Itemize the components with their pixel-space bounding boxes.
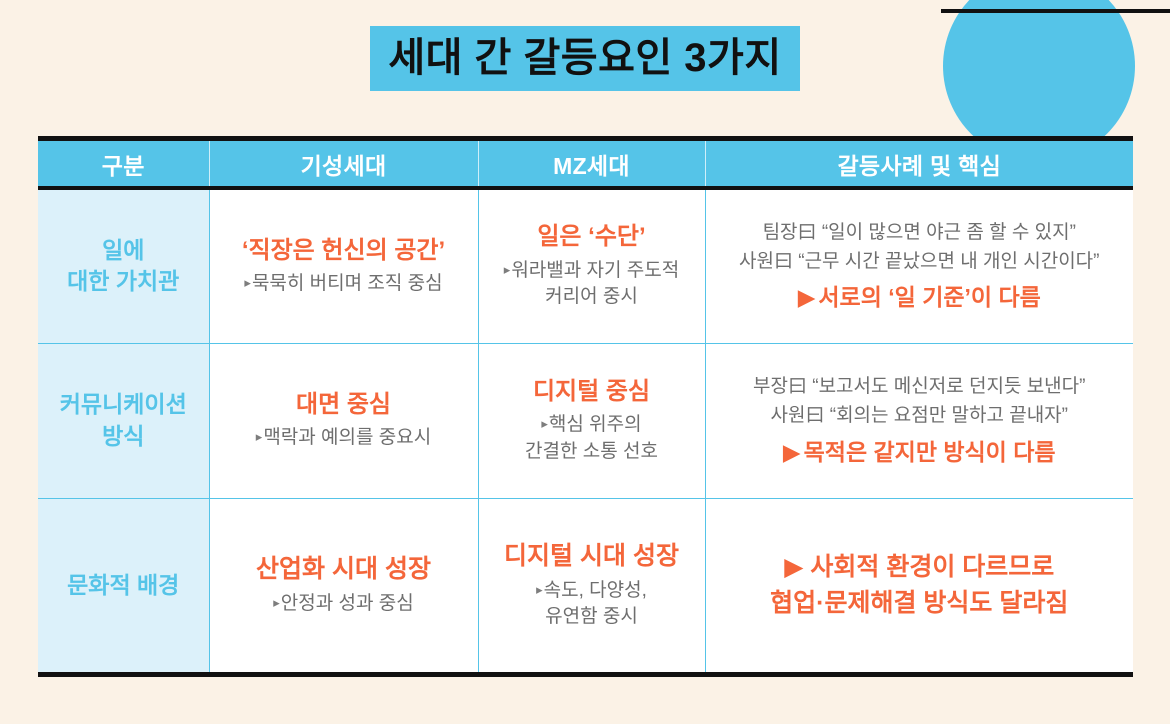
column-header-mz-generation: MZ세대 (478, 141, 705, 188)
triangle-right-icon: ▶ (798, 284, 816, 310)
older-bullet-text: 묵묵히 버티며 조직 중심 (252, 273, 443, 294)
row-label-work-values: 일에 대한 가치관 (38, 188, 209, 343)
row-label-line1: 문화적 배경 (46, 570, 201, 601)
cell-conflict-work-values: 팀장曰 “일이 많으면 야근 좀 할 수 있지” 사원曰 “근무 시간 끝났으면… (705, 188, 1133, 343)
older-headline: 대면 중심 (218, 389, 470, 421)
comparison-table-frame: 구분 기성세대 MZ세대 갈등사례 및 핵심 일에 대한 가치관 ‘직장은 헌신… (38, 136, 1133, 677)
table-row: 일에 대한 가치관 ‘직장은 헌신의 공간’ ▸묵묵히 버티며 조직 중심 일은… (38, 188, 1133, 343)
column-header-older-generation: 기성세대 (209, 141, 478, 188)
older-bullet: ▸묵묵히 버티며 조직 중심 (218, 271, 470, 298)
cell-older-work-values: ‘직장은 헌신의 공간’ ▸묵묵히 버티며 조직 중심 (209, 188, 478, 343)
generation-conflict-table: 구분 기성세대 MZ세대 갈등사례 및 핵심 일에 대한 가치관 ‘직장은 헌신… (38, 141, 1133, 672)
conflict-quote-1: 부장曰 “보고서도 메신저로 던지듯 보낸다” (714, 372, 1126, 401)
mz-headline: 일은 ‘수단’ (487, 221, 697, 253)
bullet-arrow-icon: ▸ (273, 595, 280, 610)
column-header-conflict-cases: 갈등사례 및 핵심 (705, 141, 1133, 188)
mz-bullet-line1: ▸핵심 위주의 (487, 412, 697, 439)
conflict-conclusion: ▶목적은 같지만 방식이 다름 (714, 435, 1126, 470)
decorative-horizontal-rule (941, 9, 1170, 13)
row-label-line2: 대한 가치관 (46, 266, 201, 297)
table-header-row: 구분 기성세대 MZ세대 갈등사례 및 핵심 (38, 141, 1133, 188)
mz-headline: 디지털 중심 (487, 376, 697, 408)
bullet-arrow-icon: ▸ (256, 429, 263, 444)
older-bullet: ▸안정과 성과 중심 (218, 591, 470, 618)
mz-bullet-line2: 커리어 중시 (487, 284, 697, 311)
older-bullet-text: 맥락과 예의를 중요시 (263, 427, 431, 448)
cell-conflict-cultural-background: ▶ 사회적 환경이 다르므로 협업·문제해결 방식도 달라짐 (705, 498, 1133, 672)
row-label-cultural-background: 문화적 배경 (38, 498, 209, 672)
older-bullet-text: 안정과 성과 중심 (281, 593, 414, 614)
table-header: 구분 기성세대 MZ세대 갈등사례 및 핵심 (38, 141, 1133, 188)
table-body: 일에 대한 가치관 ‘직장은 헌신의 공간’ ▸묵묵히 버티며 조직 중심 일은… (38, 188, 1133, 672)
bullet-arrow-icon: ▸ (536, 582, 543, 597)
conflict-conclusion: ▶서로의 ‘일 기준’이 다름 (714, 280, 1126, 315)
bullet-arrow-icon: ▸ (541, 416, 548, 431)
mz-bullet-text1: 속도, 다양성, (544, 580, 647, 601)
page-title-container: 세대 간 갈등요인 3가지 (0, 26, 1170, 91)
mz-bullet-line1: ▸워라밸과 자기 주도적 (487, 258, 697, 285)
page-title: 세대 간 갈등요인 3가지 (370, 26, 799, 91)
mz-bullet-text1: 핵심 위주의 (549, 414, 642, 435)
older-bullet: ▸맥락과 예의를 중요시 (218, 425, 470, 452)
mz-bullet-line2: 유연함 중시 (487, 604, 697, 631)
mz-bullet-text1: 워라밸과 자기 주도적 (511, 260, 679, 281)
table-row: 커뮤니케이션 방식 대면 중심 ▸맥락과 예의를 중요시 디지털 중심 ▸핵심 … (38, 343, 1133, 498)
cell-conflict-communication: 부장曰 “보고서도 메신저로 던지듯 보낸다” 사원曰 “회의는 요점만 말하고… (705, 343, 1133, 498)
row-label-communication: 커뮤니케이션 방식 (38, 343, 209, 498)
conflict-conclusion-line2: 협업·문제해결 방식도 달라짐 (714, 585, 1126, 621)
cell-mz-communication: 디지털 중심 ▸핵심 위주의 간결한 소통 선호 (478, 343, 705, 498)
bullet-arrow-icon: ▸ (244, 275, 251, 290)
conflict-conclusion-line1: ▶ 사회적 환경이 다르므로 (714, 549, 1126, 585)
column-header-category: 구분 (38, 141, 209, 188)
triangle-right-icon: ▶ (784, 553, 803, 581)
cell-mz-cultural-background: 디지털 시대 성장 ▸속도, 다양성, 유연함 중시 (478, 498, 705, 672)
row-label-line1: 커뮤니케이션 (46, 389, 201, 420)
conflict-quote-1: 팀장曰 “일이 많으면 야근 좀 할 수 있지” (714, 218, 1126, 247)
cell-older-cultural-background: 산업화 시대 성장 ▸안정과 성과 중심 (209, 498, 478, 672)
conflict-quote-2: 사원曰 “회의는 요점만 말하고 끝내자” (714, 401, 1126, 430)
conflict-conclusion-text: 목적은 같지만 방식이 다름 (804, 439, 1056, 465)
mz-bullet-line2: 간결한 소통 선호 (487, 439, 697, 466)
mz-headline: 디지털 시대 성장 (487, 540, 697, 574)
cell-older-communication: 대면 중심 ▸맥락과 예의를 중요시 (209, 343, 478, 498)
row-label-line1: 일에 (46, 235, 201, 266)
conflict-conclusion-text: 서로의 ‘일 기준’이 다름 (818, 284, 1040, 310)
table-row: 문화적 배경 산업화 시대 성장 ▸안정과 성과 중심 디지털 시대 성장 ▸속… (38, 498, 1133, 672)
conflict-quote-2: 사원曰 “근무 시간 끝났으면 내 개인 시간이다” (714, 247, 1126, 276)
conflict-conclusion-text1: 사회적 환경이 다르므로 (810, 553, 1054, 581)
mz-bullet-line1: ▸속도, 다양성, (487, 578, 697, 605)
older-headline: ‘직장은 헌신의 공간’ (218, 235, 470, 267)
triangle-right-icon: ▶ (783, 439, 801, 465)
cell-mz-work-values: 일은 ‘수단’ ▸워라밸과 자기 주도적 커리어 중시 (478, 188, 705, 343)
older-headline: 산업화 시대 성장 (218, 553, 470, 587)
row-label-line2: 방식 (46, 421, 201, 452)
bullet-arrow-icon: ▸ (504, 262, 511, 277)
